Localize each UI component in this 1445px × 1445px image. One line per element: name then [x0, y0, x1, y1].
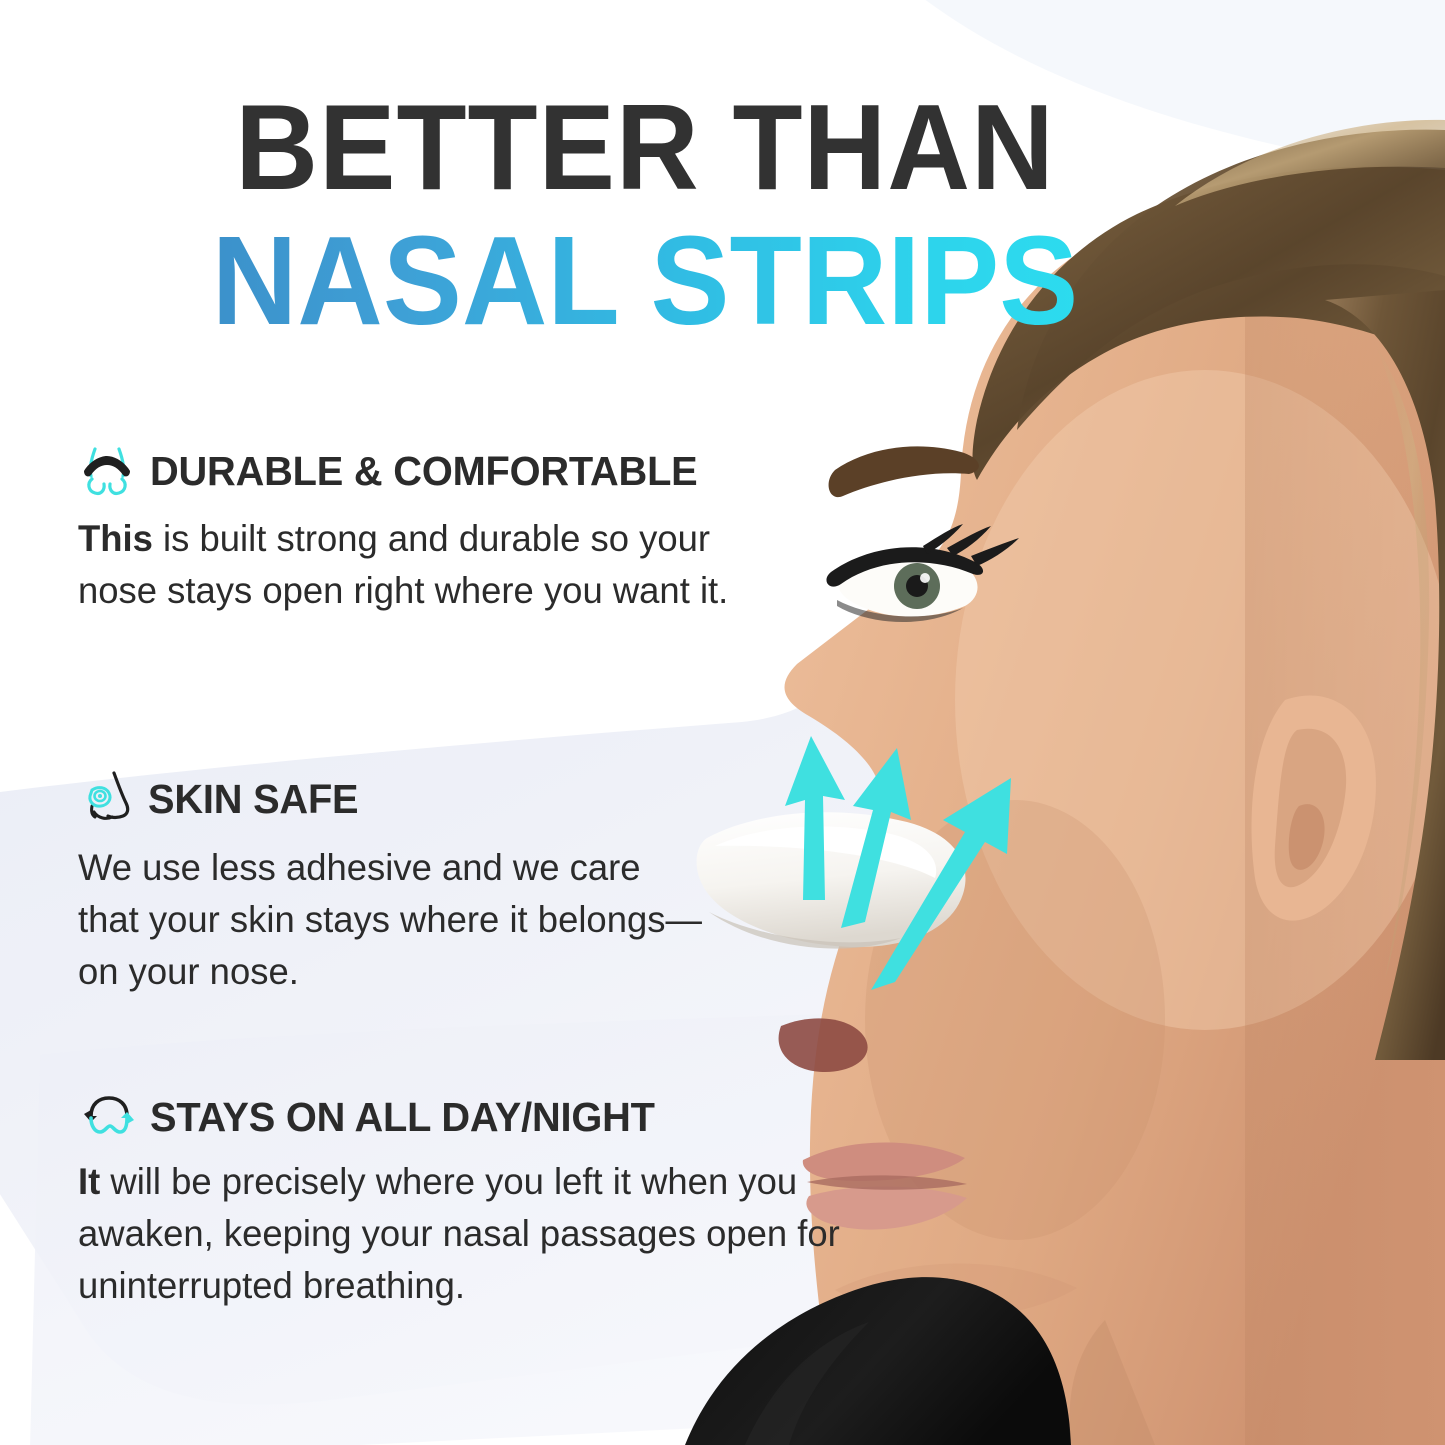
feature-header: SKIN SAFE	[78, 770, 718, 828]
feature-stays-on-all-day-night: STAYS ON ALL DAY/NIGHT It will be precis…	[78, 1092, 868, 1311]
feature-body: It will be precisely where you left it w…	[78, 1156, 856, 1311]
headline: BETTER THAN NASAL STRIPS	[0, 86, 1290, 344]
headline-line-2: NASAL STRIPS	[39, 218, 1252, 344]
feature-header: STAYS ON ALL DAY/NIGHT	[78, 1092, 868, 1142]
feature-body-lead: It	[78, 1161, 100, 1202]
nose-profile-skin-icon	[84, 770, 134, 828]
feature-header: DURABLE & COMFORTABLE	[78, 443, 768, 499]
feature-body: This is built strong and durable so your…	[78, 513, 758, 617]
headline-line-1: BETTER THAN	[39, 86, 1252, 208]
feature-durable-comfortable: DURABLE & COMFORTABLE This is built stro…	[78, 443, 768, 617]
infographic-canvas: BETTER THAN NASAL STRIPS DURABLE &	[0, 0, 1445, 1445]
nose-with-strip-icon	[78, 443, 136, 499]
feature-title: SKIN SAFE	[148, 776, 358, 823]
eyebrow	[829, 446, 979, 497]
day-night-cycle-icon	[82, 1092, 136, 1142]
feature-title: DURABLE & COMFORTABLE	[150, 448, 698, 495]
feature-body: We use less adhesive and we care that yo…	[78, 842, 708, 997]
feature-title: STAYS ON ALL DAY/NIGHT	[150, 1094, 655, 1141]
feature-skin-safe: SKIN SAFE We use less adhesive and we ca…	[78, 770, 718, 997]
feature-body-text: will be precisely where you left it when…	[78, 1161, 840, 1306]
feature-body-text: We use less adhesive and we care that yo…	[78, 847, 702, 992]
feature-body-lead: This	[78, 518, 153, 559]
feature-body-text: is built strong and durable so your nose…	[78, 518, 728, 611]
